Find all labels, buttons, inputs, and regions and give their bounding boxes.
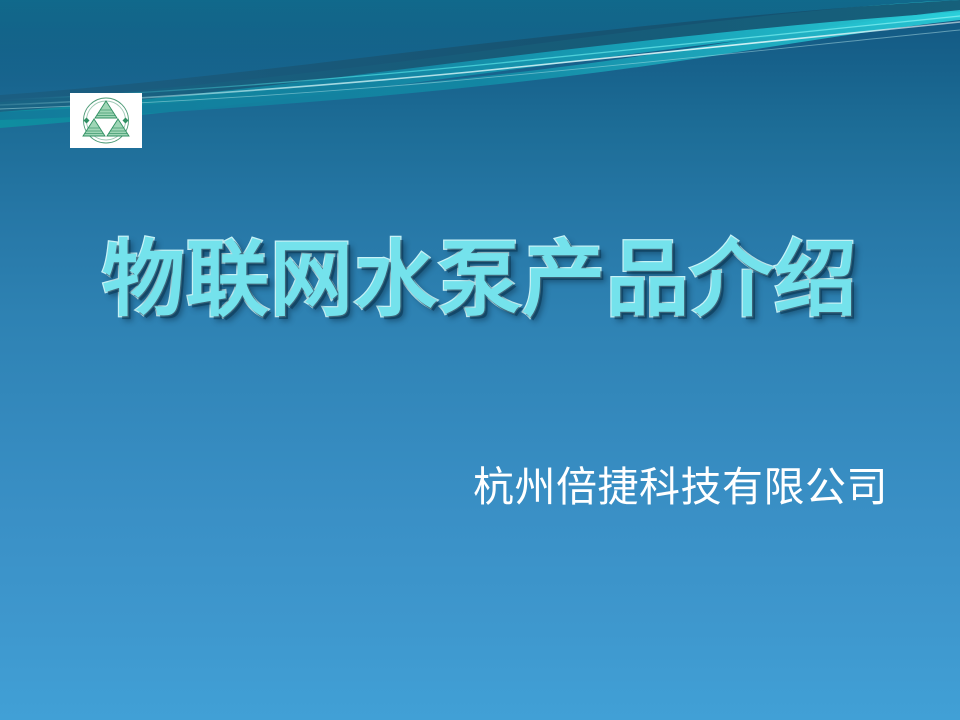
slide-subtitle: 杭州倍捷科技有限公司 <box>0 461 960 513</box>
three-pyramids-in-circle-icon <box>70 93 142 148</box>
pyramid-top <box>95 101 117 118</box>
wave-glow <box>0 0 960 96</box>
title-slide: 物联网水泵产品介绍 杭州倍捷科技有限公司 <box>0 0 960 720</box>
wave-hairline-faint <box>0 30 960 109</box>
wave-ribbon-cyan <box>0 10 960 120</box>
wave-hairline-white <box>0 22 960 105</box>
wave-ribbon-teal <box>0 0 960 128</box>
wave-ribbon-dark <box>0 0 960 112</box>
wave-ribbon-band <box>0 0 960 140</box>
slide-title: 物联网水泵产品介绍 <box>0 228 960 332</box>
wave-hairline-cyan <box>0 16 960 100</box>
company-logo <box>70 93 142 148</box>
